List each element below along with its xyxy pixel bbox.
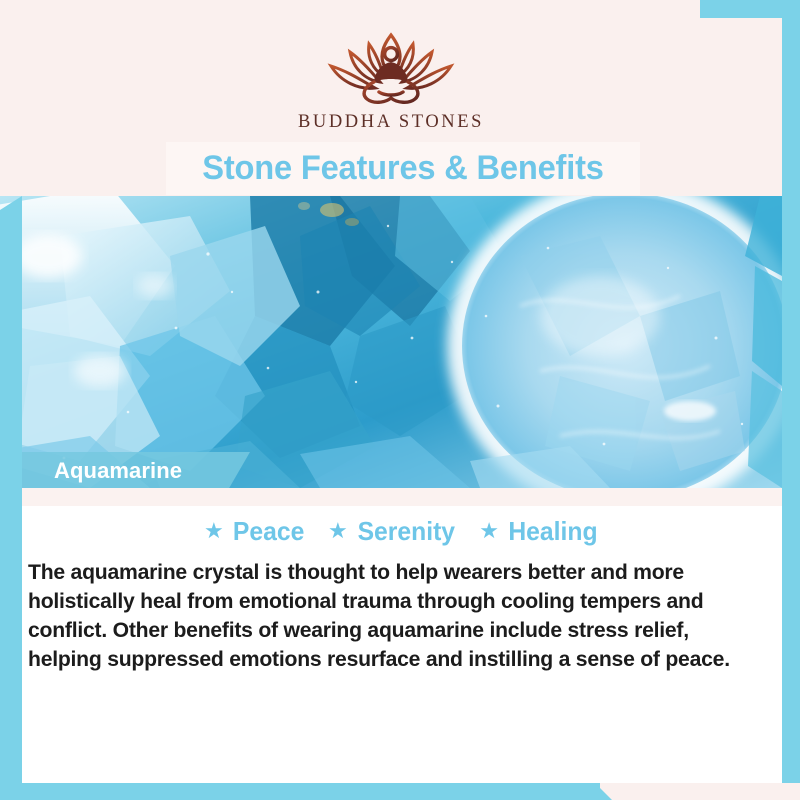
star-icon: ★ bbox=[479, 520, 499, 542]
page-title: Stone Features & Benefits bbox=[175, 142, 630, 195]
keyword-row: ★ Peace ★ Serenity ★ Healing bbox=[22, 512, 782, 550]
keyword-label-serenity: Serenity bbox=[357, 516, 454, 547]
stone-name-label: Aquamarine bbox=[0, 452, 250, 490]
keyword-item: ★ Serenity bbox=[328, 516, 457, 547]
lotus-meditation-icon bbox=[317, 26, 465, 110]
hero-image bbox=[0, 196, 782, 488]
bottom-blue-frame-band bbox=[0, 783, 612, 800]
aquamarine-crystal-illustration bbox=[0, 196, 782, 488]
star-icon: ★ bbox=[328, 520, 348, 542]
keyword-item: ★ Healing bbox=[479, 516, 600, 547]
poster-canvas: Aquamarine bbox=[0, 0, 800, 800]
keyword-label-healing: Healing bbox=[508, 516, 597, 547]
content-panel-top-strip bbox=[22, 488, 782, 506]
right-blue-frame-band bbox=[782, 0, 800, 800]
left-blue-frame-band bbox=[0, 196, 22, 796]
keyword-label-peace: Peace bbox=[233, 516, 304, 547]
star-icon: ★ bbox=[204, 520, 224, 542]
brand-name: BUDDHA STONES bbox=[298, 112, 484, 133]
description-text: The aquamarine crystal is thought to hel… bbox=[28, 558, 755, 674]
keyword-item: ★ Peace bbox=[204, 516, 306, 547]
bottom-right-cream-corner bbox=[600, 783, 800, 800]
brand-logo: BUDDHA STONES bbox=[0, 26, 782, 138]
